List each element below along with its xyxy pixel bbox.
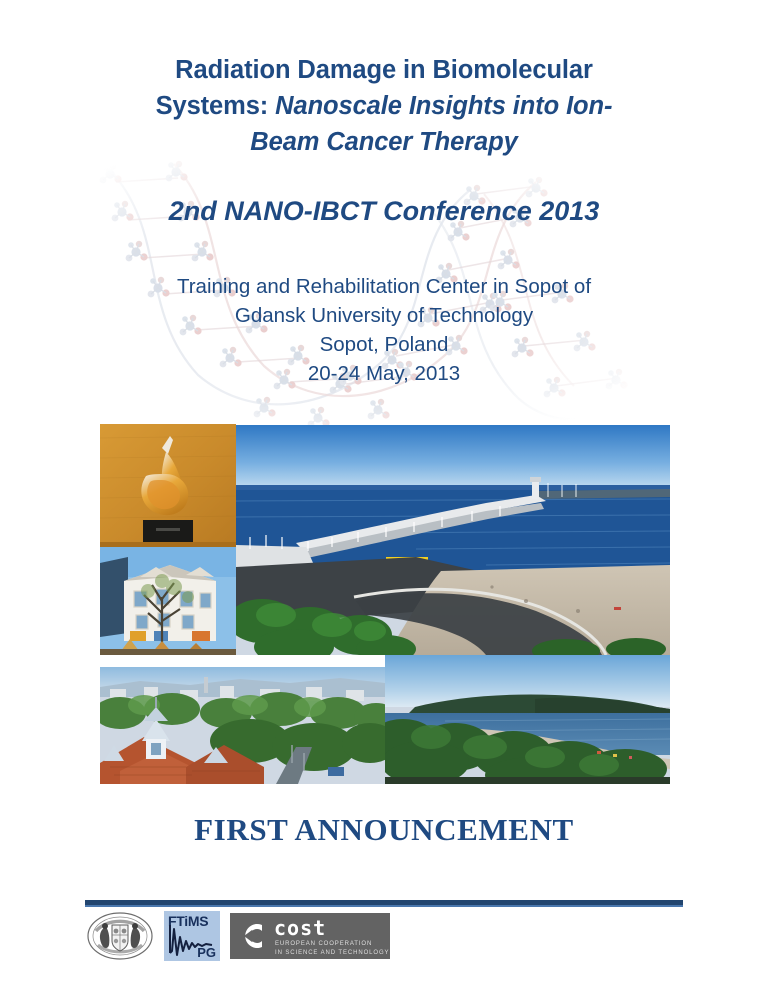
pg-label: PG: [197, 945, 216, 960]
conference-name: 2nd NANO-IBCT Conference 2013: [84, 196, 684, 227]
page-title: Radiation Damage in Biomolecular Systems…: [84, 52, 684, 160]
photo-villa: [100, 547, 236, 655]
venue-details: Training and Rehabilitation Center in So…: [84, 272, 684, 388]
footer-divider: [85, 900, 683, 907]
photo-collage: [100, 424, 670, 784]
photo-sculpture: [100, 424, 236, 547]
title-line-1: Radiation Damage in Biomolecular: [84, 52, 684, 88]
cost-wordmark: cost: [274, 918, 326, 938]
first-announcement-heading: FIRST ANNOUNCEMENT: [84, 812, 684, 848]
venue-line-1: Training and Rehabilitation Center in So…: [84, 272, 684, 301]
footer-logos: FTiMS PG cost EUROPEAN COOPERATIONIN SCI…: [86, 910, 390, 962]
venue-line-3: Sopot, Poland: [84, 330, 684, 359]
cost-logo: cost EUROPEAN COOPERATIONIN SCIENCE AND …: [230, 913, 390, 959]
cost-tagline: EUROPEAN COOPERATIONIN SCIENCE AND TECHN…: [275, 940, 390, 957]
title-line-3: Beam Cancer Therapy: [84, 124, 684, 160]
photo-pier: [236, 425, 670, 655]
venue-line-2: Gdansk University of Technology: [84, 301, 684, 330]
university-crest-logo: [86, 911, 154, 961]
photo-townview: [100, 667, 385, 784]
venue-dates: 20-24 May, 2013: [84, 359, 684, 388]
ftims-pg-logo: FTiMS PG: [164, 911, 220, 961]
title-line-2-italic: Nanoscale Insights into Ion-: [275, 92, 612, 120]
title-line-2: Systems: Nanoscale Insights into Ion-: [84, 88, 684, 124]
cost-tagline-line-2: IN SCIENCE AND TECHNOLOGY: [275, 950, 389, 956]
title-line-2-plain: Systems:: [156, 92, 276, 120]
photo-bay: [385, 655, 670, 784]
cost-tagline-line-1: EUROPEAN COOPERATION: [275, 941, 372, 947]
